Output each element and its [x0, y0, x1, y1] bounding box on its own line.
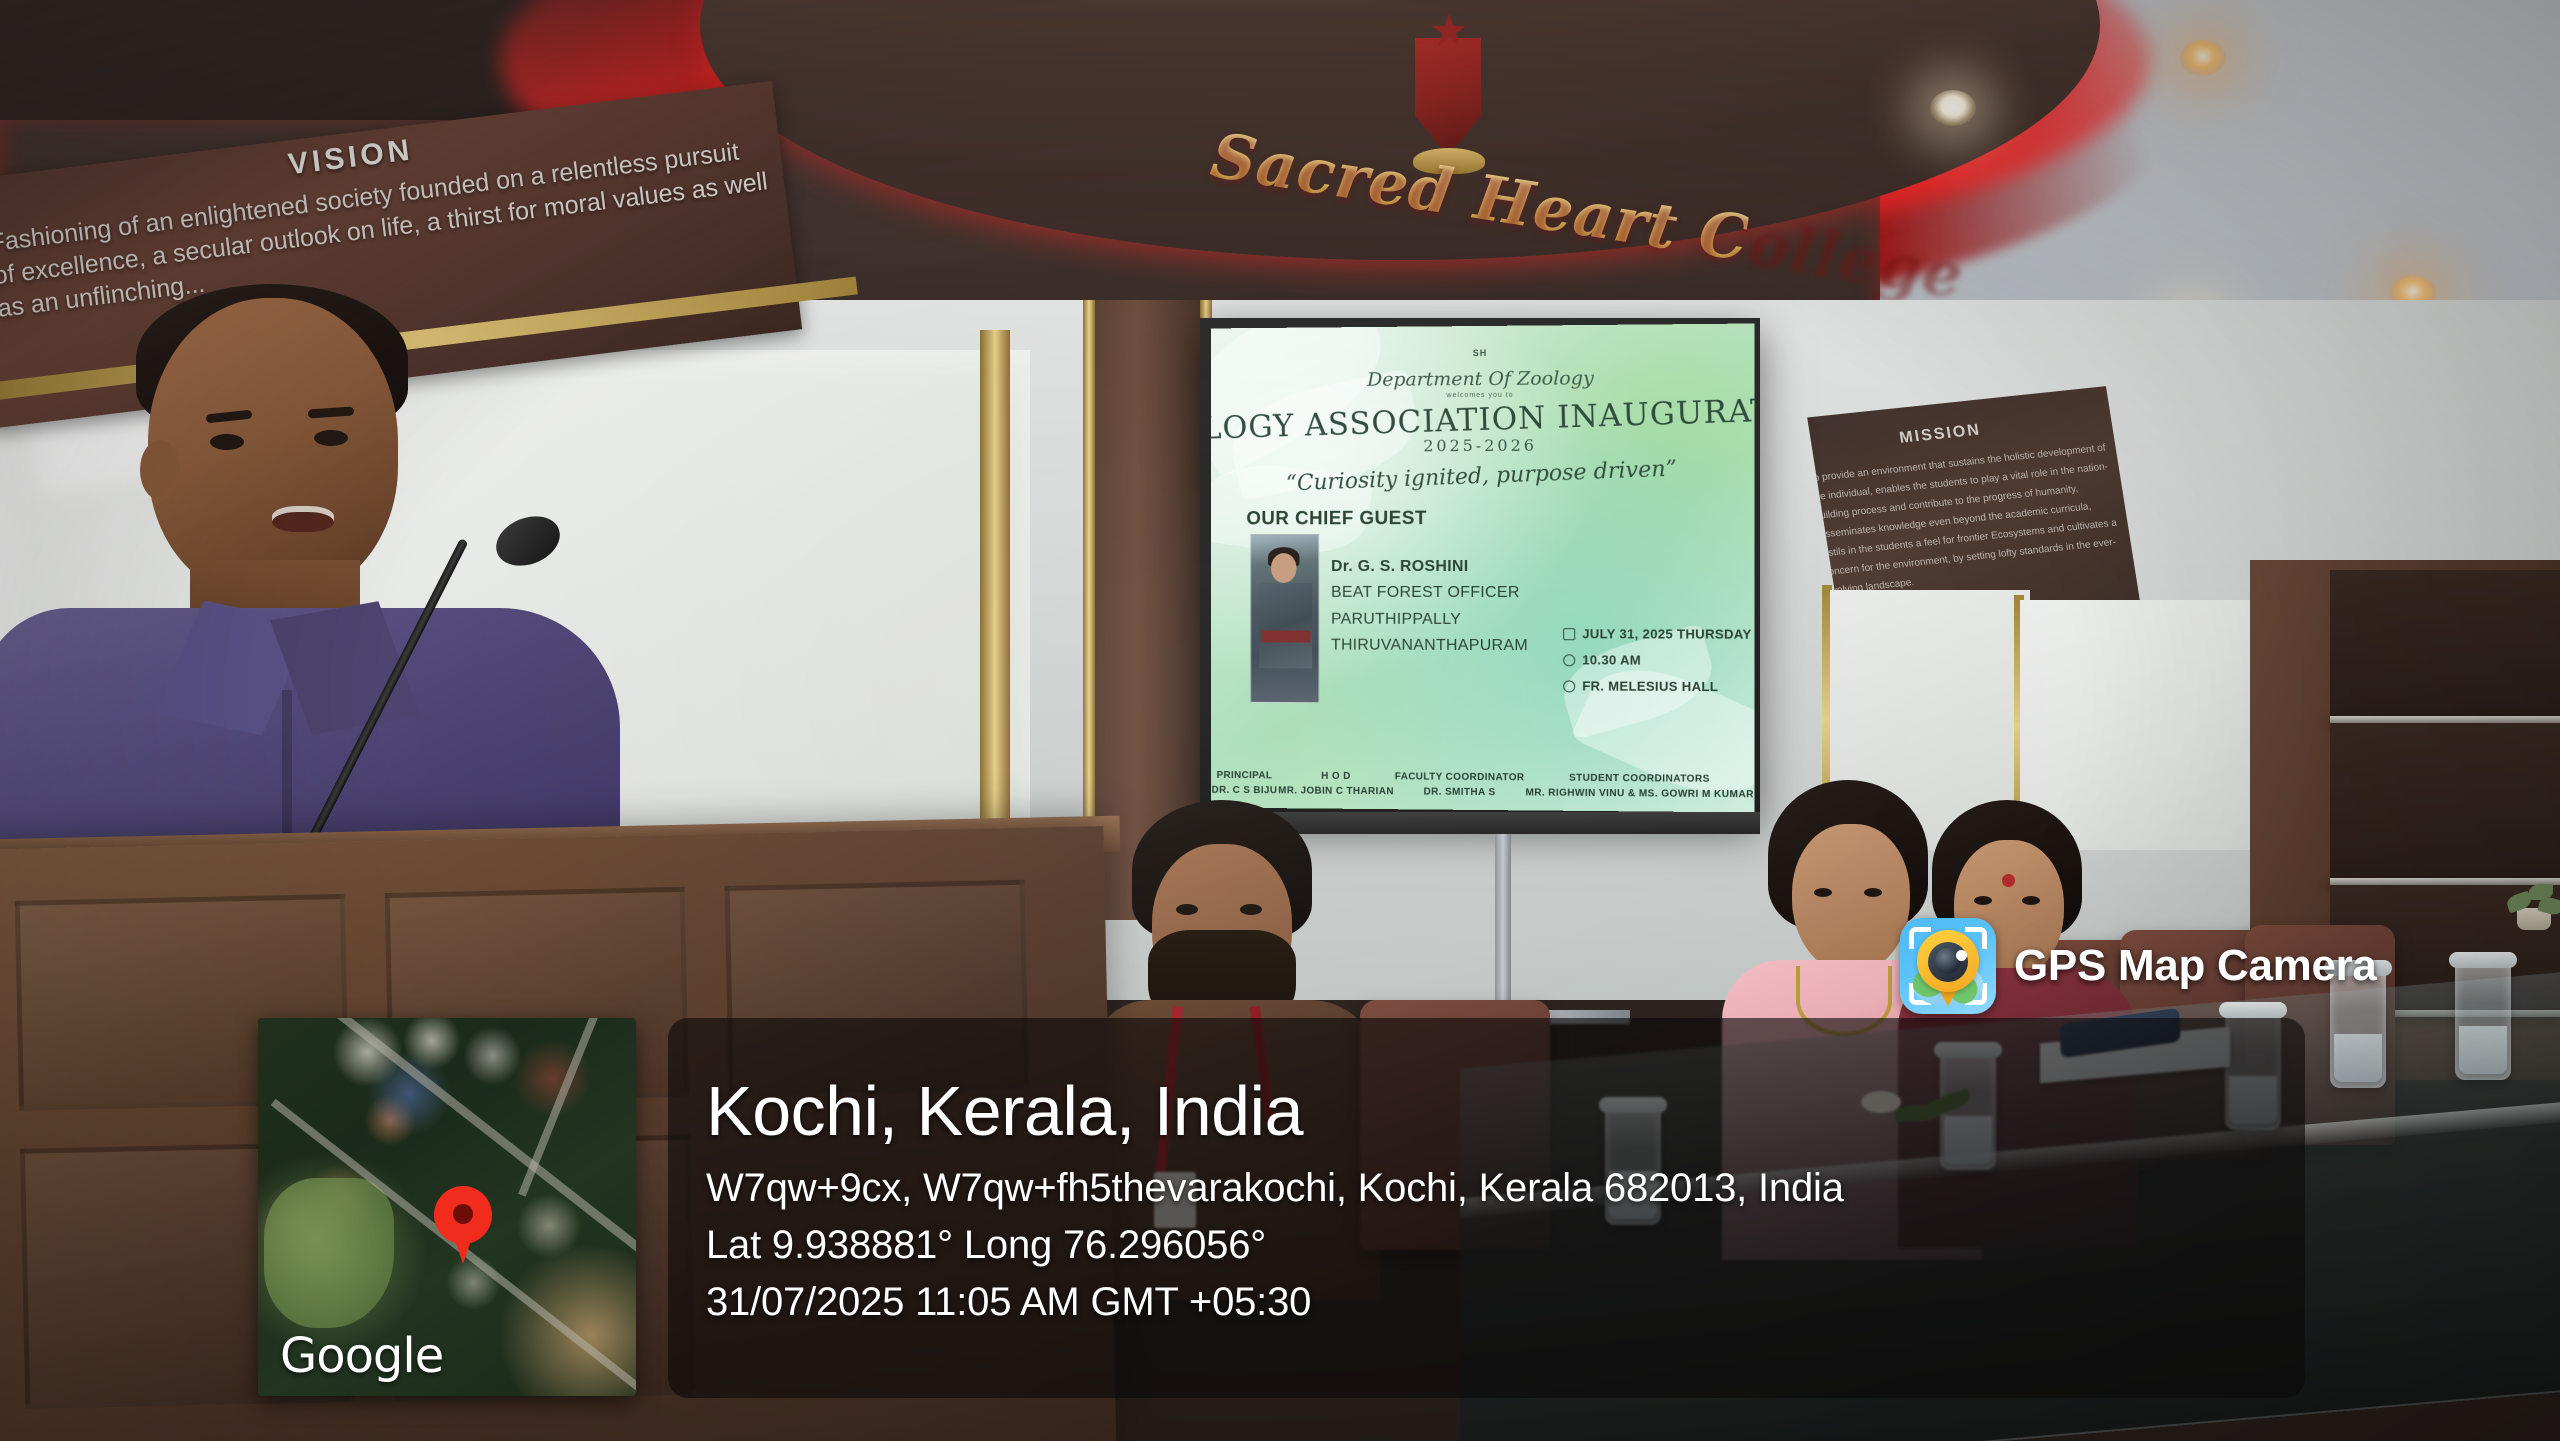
event-details: JULY 31, 2025 THURSDAY 10.30 AM FR. MELE…: [1563, 621, 1751, 700]
event-time-row: 10.30 AM: [1563, 647, 1751, 674]
potted-plant: [2505, 880, 2560, 930]
woman-eye: [2022, 896, 2040, 905]
speaker-head: [148, 298, 398, 598]
screen-stand-leg: [1495, 834, 1511, 1024]
guest-name: Dr. G. S. ROSHINI: [1331, 554, 1528, 580]
gps-map-camera-icon: [1900, 918, 1996, 1014]
map-green-area: [264, 1178, 394, 1328]
guest-face: [1271, 553, 1297, 583]
lens-highlight: [1956, 950, 1967, 961]
event-time: 10.30 AM: [1582, 647, 1641, 673]
chief-guest-photo: [1250, 534, 1319, 703]
presentation-slide: SH Department Of Zoology welcomes you to…: [1211, 324, 1754, 813]
credit-item: STUDENT COORDINATORS MR. RIGHWIN VINU & …: [1525, 772, 1753, 800]
ceiling-spotlight: [1930, 90, 1976, 126]
slide-academic-years: 2025-2026: [1423, 436, 1537, 456]
guest-uniform: [1259, 583, 1312, 668]
slide-welcomes-text: welcomes you to: [1447, 392, 1514, 399]
map-location-pin-icon: [434, 1186, 492, 1266]
map-thumbnail[interactable]: Google: [258, 1018, 636, 1396]
mission-board-title: MISSION: [1898, 422, 1982, 448]
woman-eye: [1814, 888, 1832, 897]
gps-map-camera-label: GPS Map Camera: [2014, 941, 2377, 991]
credit-item: H O D MR. JOBIN C THARIAN: [1278, 770, 1394, 797]
credit-item: PRINCIPAL DR. C S BIJU: [1212, 770, 1278, 796]
gps-address-line: W7qw+9cx, W7qw+fh5thevarakochi, Kochi, K…: [706, 1160, 2306, 1217]
gps-map-camera-badge[interactable]: GPS Map Camera: [1900, 918, 2377, 1014]
speaker-eye: [314, 430, 348, 446]
screenshot-root: Sacred Heart College VISION Fashioning o…: [0, 0, 2560, 1441]
man-eye: [1240, 904, 1262, 915]
woman-bindi: [2002, 874, 2015, 887]
clock-icon: [1563, 654, 1575, 666]
credit-role: PRINCIPAL: [1212, 770, 1278, 781]
credit-role: STUDENT COORDINATORS: [1525, 772, 1753, 785]
glass-water: [2459, 1026, 2507, 1074]
chief-guest-details: Dr. G. S. ROSHINI BEAT FOREST OFFICER PA…: [1331, 554, 1528, 660]
shelf-recess: [2330, 723, 2560, 883]
credit-role: H O D: [1278, 770, 1394, 782]
guest-sash: [1261, 630, 1310, 642]
whiteboard-frame-gold: [980, 330, 1010, 890]
vision-board-title: VISION: [286, 133, 415, 182]
woman-eye: [1864, 888, 1882, 897]
ceiling-spotlight: [2180, 40, 2226, 76]
gps-city-line: Kochi, Kerala, India: [706, 1076, 2306, 1146]
slide-department: Department Of Zoology: [1367, 367, 1594, 391]
guest-designation: BEAT FOREST OFFICER: [1331, 580, 1528, 607]
glass-water: [2334, 1034, 2382, 1082]
water-glass: [2455, 960, 2511, 1080]
slide-chief-guest-heading: OUR CHIEF GUEST: [1246, 508, 1427, 530]
credit-role: FACULTY COORDINATOR: [1395, 771, 1525, 783]
gps-stamp-text: Kochi, Kerala, India W7qw+9cx, W7qw+fh5t…: [706, 1076, 2306, 1330]
woman-face: [1792, 824, 1910, 974]
slide-crest: SH: [1473, 348, 1487, 358]
shelf-recess: [2330, 570, 2560, 720]
event-venue: FR. MELESIUS HALL: [1582, 673, 1718, 700]
credit-name: MR. JOBIN C THARIAN: [1278, 785, 1394, 797]
man-eye: [1176, 904, 1198, 915]
credit-name: DR. C S BIJU: [1212, 785, 1278, 796]
google-watermark: Google: [280, 1328, 443, 1384]
slide-crest-label: SH: [1473, 348, 1487, 358]
gps-coordinates-line: Lat 9.938881° Long 76.296056°: [706, 1217, 2306, 1274]
event-date-row: JULY 31, 2025 THURSDAY: [1563, 621, 1751, 648]
mission-board-text: To provide an environment that sustains …: [1807, 438, 2127, 601]
shelf-edge: [2330, 716, 2560, 723]
guest-district: THIRUVANANTHAPURAM: [1331, 633, 1528, 660]
pin-center-dot: [453, 1204, 473, 1224]
woman-eye: [1974, 896, 1992, 905]
glass-lid: [2449, 952, 2517, 968]
credit-item: FACULTY COORDINATOR DR. SMITHA S: [1395, 771, 1525, 798]
credit-name: MR. RIGHWIN VINU & MS. GOWRI M KUMAR: [1525, 787, 1753, 800]
speaker-ear: [140, 440, 180, 500]
projector-screen-frame: SH Department Of Zoology welcomes you to…: [1200, 318, 1760, 818]
calendar-icon: [1563, 628, 1575, 640]
speaker-mouth: [272, 506, 334, 532]
guest-place: PARUTHIPPALLY: [1331, 607, 1528, 634]
speaker-eye: [210, 434, 244, 450]
event-date: JULY 31, 2025 THURSDAY: [1582, 621, 1751, 648]
location-pin-icon: [1563, 680, 1575, 692]
gps-datetime-line: 31/07/2025 11:05 AM GMT +05:30: [706, 1274, 2306, 1331]
event-venue-row: FR. MELESIUS HALL: [1563, 673, 1751, 700]
credit-name: DR. SMITHA S: [1395, 786, 1525, 798]
slide-credits: PRINCIPAL DR. C S BIJU H O D MR. JOBIN C…: [1211, 770, 1754, 800]
